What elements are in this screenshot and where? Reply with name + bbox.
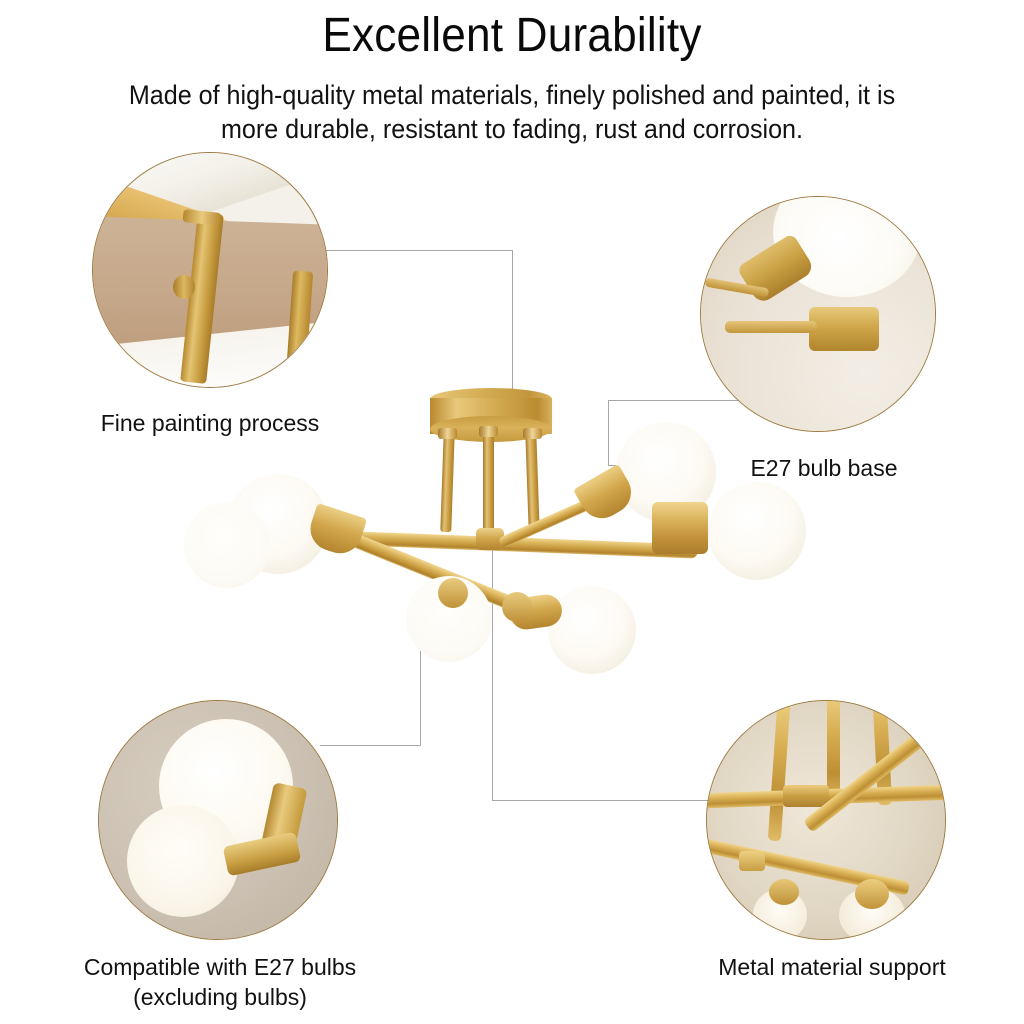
bulb-globe-lower-right <box>548 586 636 674</box>
callout-e27-bulb-base[interactable]: E27 bulb base <box>640 0 1024 500</box>
callout-fine-painting[interactable]: Fine painting process <box>0 0 420 460</box>
callout-image-compatible-e27 <box>98 700 338 940</box>
callout-label-e27-bulb-base: E27 bulb base <box>674 453 974 483</box>
callout-metal-support[interactable]: Metal material support <box>640 690 1024 1010</box>
drop-rod-center <box>483 430 494 542</box>
callout-compatible-e27[interactable]: Compatible with E27 bulbs (excluding bul… <box>0 690 440 1024</box>
drop-rod-right <box>525 432 539 532</box>
callout-image-metal-support <box>706 700 946 940</box>
bulb-socket-right <box>652 502 708 554</box>
callout-label-compatible-e27-line1: Compatible with E27 bulbs <box>0 952 440 982</box>
drop-rod-center-cap <box>479 426 498 437</box>
callout-label-fine-painting: Fine painting process <box>0 408 420 438</box>
callout-image-e27-bulb-base <box>700 196 936 432</box>
drop-rod-right-cap <box>523 428 542 439</box>
infographic-canvas: Excellent Durability Made of high-qualit… <box>0 0 1024 1024</box>
callout-label-compatible-e27-line2: (excluding bulbs) <box>0 982 440 1012</box>
drop-rod-left-cap <box>438 428 457 439</box>
callout-label-metal-support: Metal material support <box>640 952 1024 982</box>
drop-rod-left <box>440 432 454 532</box>
bulb-hub-lower-right <box>502 592 532 622</box>
bulb-hub-lower-left <box>438 578 468 608</box>
callout-image-fine-painting <box>92 152 328 388</box>
bulb-globe-left-back <box>184 502 270 588</box>
